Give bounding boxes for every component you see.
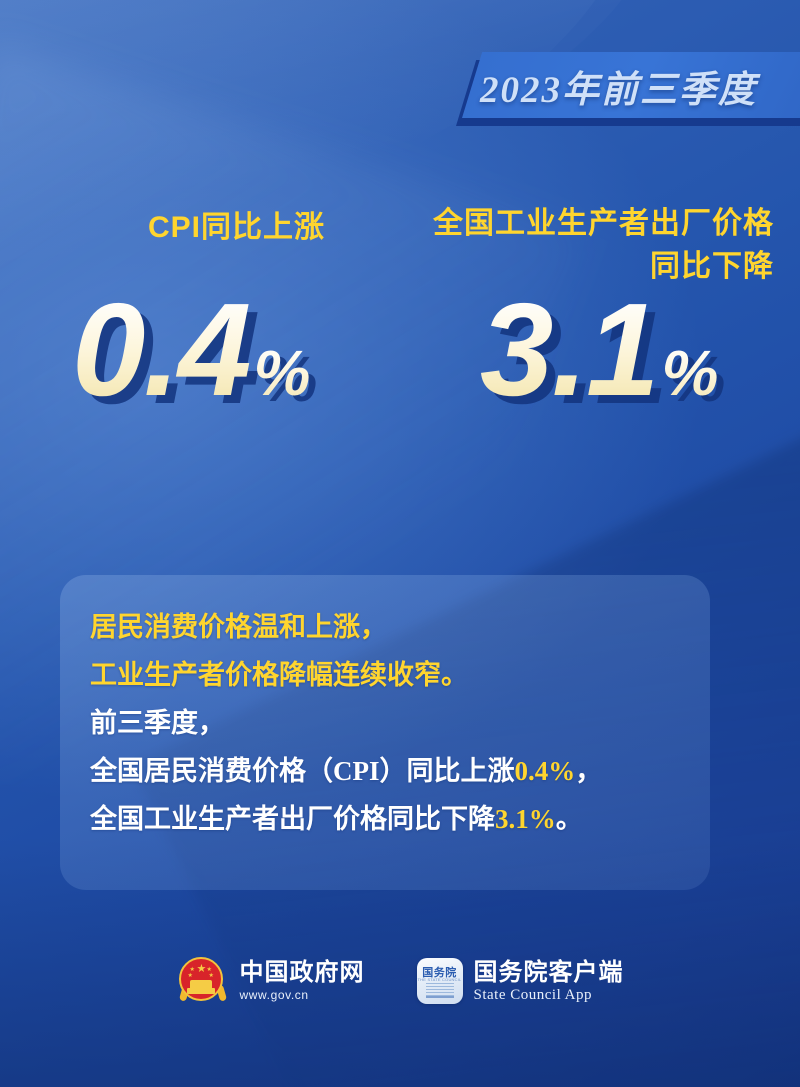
national-emblem-icon: ★ ★ ★ ★ ★ — [177, 955, 229, 1007]
summary-line-4-suffix: ， — [575, 756, 602, 786]
summary-panel: 居民消费价格温和上涨， 工业生产者价格降幅连续收窄。 前三季度， 全国居民消费价… — [60, 575, 710, 890]
summary-line-5-prefix: 全国工业生产者出厂价格同比下降 — [90, 804, 495, 834]
app-icon-subtitle: THE STATE COUNCIL — [417, 977, 463, 982]
stat-value-cpi-number: 0.4 — [72, 288, 250, 412]
stat-value-cpi-unit: % — [254, 341, 311, 405]
state-council-app-icon: 国务院 THE STATE COUNCIL — [417, 958, 463, 1004]
state-council-app-text: 国务院客户端 State Council App — [474, 959, 624, 1003]
stat-label-ppi-line1: 全国工业生产者出厂价格 — [354, 202, 774, 245]
stat-label-cpi: CPI同比上涨 — [148, 202, 325, 246]
summary-line-4: 全国居民消费价格（CPI）同比上涨0.4%， — [90, 747, 688, 795]
summary-line-5-highlight: 3.1% — [495, 804, 556, 834]
period-badge-label: 2023年前三季度 — [480, 56, 800, 116]
summary-line-5-suffix: 。 — [556, 804, 583, 834]
summary-line-1: 居民消费价格温和上涨， — [90, 603, 688, 651]
summary-line-4-highlight: 0.4% — [515, 756, 576, 786]
app-icon-gate-graphic — [426, 983, 454, 998]
emblem-base — [187, 988, 215, 994]
infographic-poster: 2023年前三季度 CPI同比上涨 0.4 % 全国工业生产者出厂价格 同比下降… — [0, 0, 800, 1087]
summary-line-4-prefix: 全国居民消费价格（CPI）同比上涨 — [90, 756, 515, 786]
emblem-star-small-4: ★ — [209, 973, 214, 979]
app-name-cn: 国务院客户端 — [474, 959, 624, 987]
summary-line-2: 工业生产者价格降幅连续收窄。 — [90, 651, 688, 699]
stat-value-cpi: 0.4 % — [72, 288, 310, 412]
gov-logo-name: 中国政府网 — [240, 959, 365, 987]
summary-line-5: 全国工业生产者出厂价格同比下降3.1%。 — [90, 795, 688, 843]
app-name-en: State Council App — [474, 987, 624, 1003]
stat-value-ppi: 3.1 % — [480, 288, 718, 412]
footer-logos: ★ ★ ★ ★ ★ 中国政府网 www.gov.cn 国务院 THE STATE… — [0, 955, 800, 1007]
summary-panel-body: 居民消费价格温和上涨， 工业生产者价格降幅连续收窄。 前三季度， 全国居民消费价… — [90, 603, 688, 843]
gov-logo-url: www.gov.cn — [240, 987, 365, 1003]
period-badge: 2023年前三季度 — [440, 50, 800, 128]
summary-line-3: 前三季度， — [90, 699, 688, 747]
stat-value-ppi-number: 3.1 — [480, 288, 658, 412]
emblem-star-small-2: ★ — [188, 973, 193, 979]
gov-logo-unit[interactable]: ★ ★ ★ ★ ★ 中国政府网 www.gov.cn — [177, 955, 365, 1007]
state-council-app-unit[interactable]: 国务院 THE STATE COUNCIL 国务院客户端 State Counc… — [417, 958, 624, 1004]
gov-logo-text: 中国政府网 www.gov.cn — [240, 959, 365, 1003]
emblem-star-large: ★ — [197, 964, 207, 975]
stat-value-ppi-unit: % — [662, 341, 719, 405]
